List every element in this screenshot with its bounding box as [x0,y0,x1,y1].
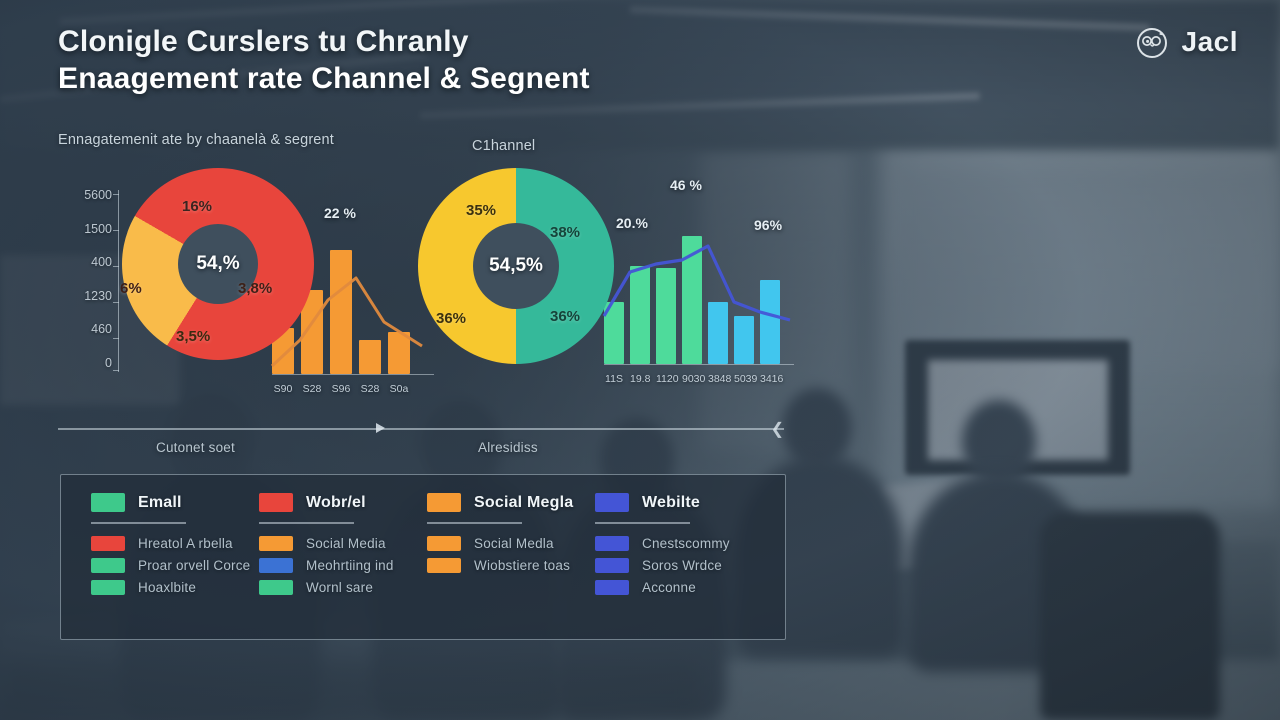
subtitle-left: Ennagatemenit ate by chaanelà & segrent [58,132,334,148]
legend-header-label: Emall [138,494,182,512]
donut-left-slice-label-1: 16% [182,198,212,215]
section-divider: ❮ Cutonet soet Alresidiss [58,424,784,472]
legend-header-worbel[interactable]: Wobr/el [259,493,427,512]
title-line-1: Clonigle Curslers tu Chranly [58,24,590,61]
divider-label-left: Cutonet soet [156,440,235,455]
engagement-donut-right[interactable]: 54,5% 35% 38% 36% 36% [418,168,614,364]
legend-divider [427,522,522,524]
legend-swatch-icon [91,493,125,512]
legend-swatch-icon [91,558,125,573]
legend-item[interactable]: Wornl sare [259,580,427,595]
legend-swatch-icon [259,536,293,551]
slide-content: Clonigle Curslers tu Chranly Enaagement … [0,0,1280,720]
green-chart-annotation-1: 20.% [616,215,648,231]
legend-item[interactable]: Social Media [259,536,427,551]
y-axis-tick-mark-0 [113,194,119,195]
legend-swatch-icon [259,580,293,595]
legend-divider [259,522,354,524]
donut-right-center: 54,5% [473,223,559,309]
donut-left-slice-label-4: 6% [120,280,142,297]
x-tick: S90 [272,383,294,395]
legend-item[interactable]: Cnestscommy [595,536,763,551]
x-tick: S28 [359,383,381,395]
legend-col-website: Webilte Cnestscommy Soros Wrdce Acconne [595,493,763,623]
green-chart-baseline [604,364,794,365]
legend-swatch-icon [595,493,629,512]
brand-logo[interactable]: Jacl [1135,24,1239,60]
legend-swatch-icon [259,493,293,512]
legend-swatch-icon [259,558,293,573]
legend-swatch-icon [427,558,461,573]
legend-item[interactable]: Proar orvell Corce [91,558,259,573]
legend-header-website[interactable]: Webilte [595,493,763,512]
y-axis-tick-mark-2 [113,266,119,267]
orange-chart-annotation: 22 % [324,205,356,221]
legend-item-label: Meohrtiing ind [306,558,394,573]
x-tick: 3416 [760,373,780,385]
orange-chart-baseline [272,374,434,375]
legend-header-social[interactable]: Social Megla [427,493,595,512]
green-chart-annotation-3: 96% [754,217,782,233]
legend-swatch-icon [91,536,125,551]
y-axis-tick-mark-5 [113,370,119,371]
title-line-2: Enaagement rate Channel & Segnent [58,61,590,98]
legend-item-label: Social Media [306,536,386,551]
legend-item-label: Hoaxlbite [138,580,196,595]
legend-header-email[interactable]: Emall [91,493,259,512]
legend-item[interactable]: Acconne [595,580,763,595]
legend-divider [595,522,690,524]
legend-item[interactable]: Meohrtiing ind [259,558,427,573]
legend-divider [91,522,186,524]
legend-swatch-icon [595,580,629,595]
legend-item-label: Acconne [642,580,696,595]
legend-header-label: Wobr/el [306,494,366,512]
page-title: Clonigle Curslers tu Chranly Enaagement … [58,24,590,97]
legend-item[interactable]: Wiobstiere toas [427,558,595,573]
legend-swatch-icon [595,536,629,551]
y-axis-tick-5: 0 [105,356,112,370]
legend-item-label: Soros Wrdce [642,558,722,573]
y-axis-tick-1: 1500 [84,222,112,236]
donut-left-slice-label-3: 3,5% [176,328,210,345]
legend-panel: Emall Hreatol A rbella Proar orvell Corc… [60,474,786,640]
legend-header-label: Social Megla [474,494,573,512]
x-tick: 11S [604,373,624,385]
legend-swatch-icon [595,558,629,573]
divider-rule [58,428,784,430]
legend-item-label: Proar orvell Corce [138,558,250,573]
subtitle-right: C1hannel [472,138,535,154]
y-axis-tick-4: 460 [91,322,112,336]
legend-swatch-icon [427,493,461,512]
x-tick: 19.8 [630,373,650,385]
legend-item[interactable]: Social Medla [427,536,595,551]
green-trend-line [604,224,794,364]
y-axis-tick-mark-1 [113,230,119,231]
engagement-donut-left[interactable]: 54,% 16% 3,8% 3,5% 6% [122,168,314,360]
green-cyan-bar-chart: 11S 19.8 1120 9030 3848 5039 3416 20.% 4… [604,167,794,387]
charts-band: 5600 1500 400 1230 460 0 [0,160,1280,405]
y-axis-tick-0: 5600 [84,188,112,202]
x-tick: 5039 [734,373,754,385]
y-axis-labels: 5600 1500 400 1230 460 0 [64,188,112,370]
legend-item-label: Wiobstiere toas [474,558,570,573]
donut-right-slice-label-2: 38% [550,224,580,241]
legend-item-label: Social Medla [474,536,554,551]
donut-right-slice-label-3: 36% [550,308,580,325]
green-chart-annotation-2: 46 % [670,177,702,193]
legend-col-social: Social Megla Social Medla Wiobstiere toa… [427,493,595,623]
y-axis-tick-mark-4 [113,338,119,339]
legend-swatch-icon [427,536,461,551]
owl-circle-logo-icon [1135,24,1171,60]
legend-header-label: Webilte [642,494,700,512]
legend-swatch-icon [91,580,125,595]
donut-right-center-value: 54,5% [489,255,543,277]
legend-item-label: Cnestscommy [642,536,730,551]
donut-left-slice-label-2: 3,8% [238,280,272,297]
x-tick: S96 [330,383,352,395]
y-axis-line [118,190,119,372]
y-axis-tick-mark-3 [113,302,119,303]
x-tick: S28 [301,383,323,395]
legend-item[interactable]: Soros Wrdce [595,558,763,573]
orange-chart-tick-labels: S90 S28 S96 S28 S0a [272,383,410,395]
legend-item-label: Wornl sare [306,580,373,595]
x-tick: 3848 [708,373,728,385]
brand-name: Jacl [1182,26,1239,58]
x-tick: 9030 [682,373,702,385]
legend-col-worbel: Wobr/el Social Media Meohrtiing ind Worn… [259,493,427,623]
green-chart-tick-labels: 11S 19.8 1120 9030 3848 5039 3416 [604,373,780,385]
x-tick: S0a [388,383,410,395]
donut-left-center-value: 54,% [196,253,239,275]
donut-right-slice-label-4: 36% [436,310,466,327]
chevron-left-icon[interactable]: ❮ [771,422,784,438]
legend-item[interactable]: Hreatol A rbella [91,536,259,551]
donut-right-slice-label-1: 35% [466,202,496,219]
legend-col-email: Emall Hreatol A rbella Proar orvell Corc… [91,493,259,623]
y-axis-tick-3: 1230 [84,289,112,303]
legend-item-label: Hreatol A rbella [138,536,233,551]
divider-label-right: Alresidiss [478,440,538,455]
play-triangle-icon[interactable] [376,423,385,433]
y-axis-tick-2: 400 [91,255,112,269]
legend-item[interactable]: Hoaxlbite [91,580,259,595]
x-tick: 1120 [656,373,676,385]
